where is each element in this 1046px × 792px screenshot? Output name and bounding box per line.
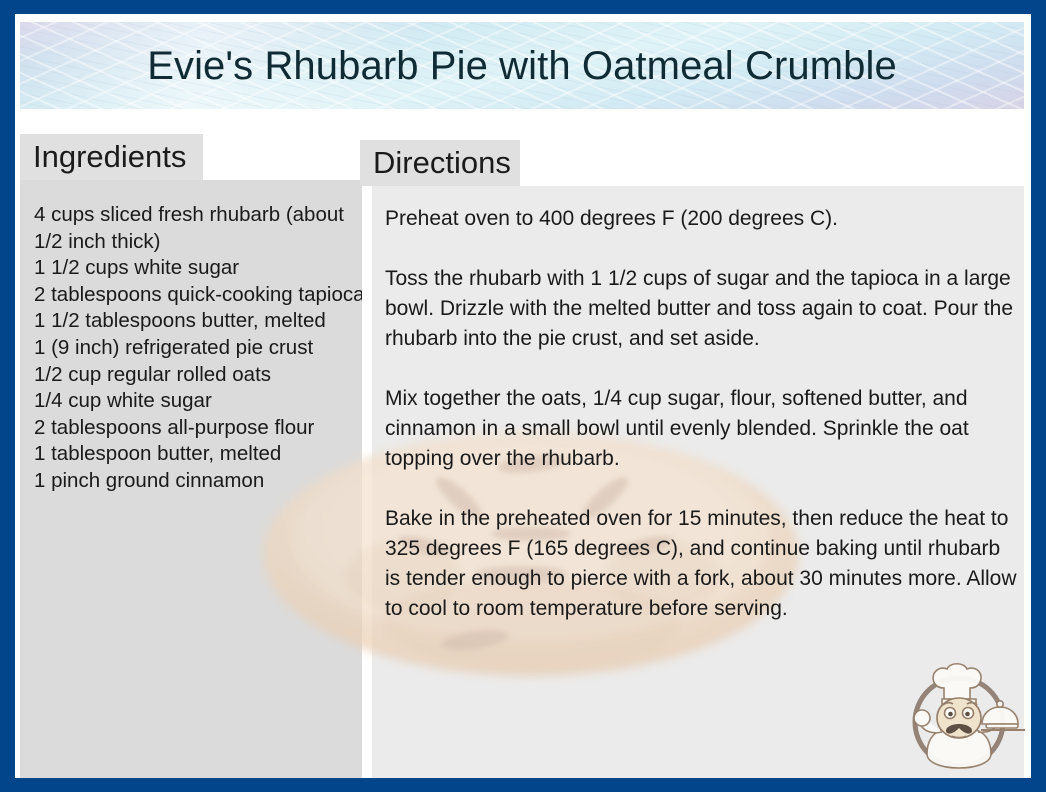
direction-step: Toss the rhubarb with 1 1/2 cups of suga… [385, 264, 1021, 354]
list-item: 1 pinch ground cinnamon [34, 468, 362, 495]
list-item: 4 cups sliced fresh rhubarb (about 1/2 i… [34, 202, 362, 255]
directions-list: Preheat oven to 400 degrees F (200 degre… [385, 204, 1021, 624]
page-title: Evie's Rhubarb Pie with Oatmeal Crumble [20, 45, 1024, 87]
direction-step: Mix together the oats, 1/4 cup sugar, fl… [385, 384, 1021, 474]
section-heading-ingredients: Ingredients [20, 134, 203, 180]
list-item: 1/4 cup white sugar [34, 388, 362, 415]
direction-step: Preheat oven to 400 degrees F (200 degre… [385, 204, 1021, 234]
list-item: 2 tablespoons quick-cooking tapioca [34, 282, 362, 309]
recipe-card-inner: Evie's Rhubarb Pie with Oatmeal Crumble [15, 14, 1031, 778]
list-item: 1 (9 inch) refrigerated pie crust [34, 335, 362, 362]
list-item: 2 tablespoons all-purpose flour [34, 415, 362, 442]
header-banner: Evie's Rhubarb Pie with Oatmeal Crumble [20, 22, 1024, 109]
ingredients-list: 4 cups sliced fresh rhubarb (about 1/2 i… [34, 202, 362, 495]
section-heading-directions: Directions [360, 140, 520, 186]
list-item: 1/2 cup regular rolled oats [34, 362, 362, 389]
list-item: 1 1/2 cups white sugar [34, 255, 362, 282]
ingredients-panel: 4 cups sliced fresh rhubarb (about 1/2 i… [20, 180, 362, 778]
list-item: 1 1/2 tablespoons butter, melted [34, 308, 362, 335]
direction-step: Bake in the preheated oven for 15 minute… [385, 504, 1021, 624]
recipe-card: Evie's Rhubarb Pie with Oatmeal Crumble [0, 0, 1046, 792]
list-item: 1 tablespoon butter, melted [34, 441, 362, 468]
directions-panel: Preheat oven to 400 degrees F (200 degre… [372, 186, 1024, 778]
